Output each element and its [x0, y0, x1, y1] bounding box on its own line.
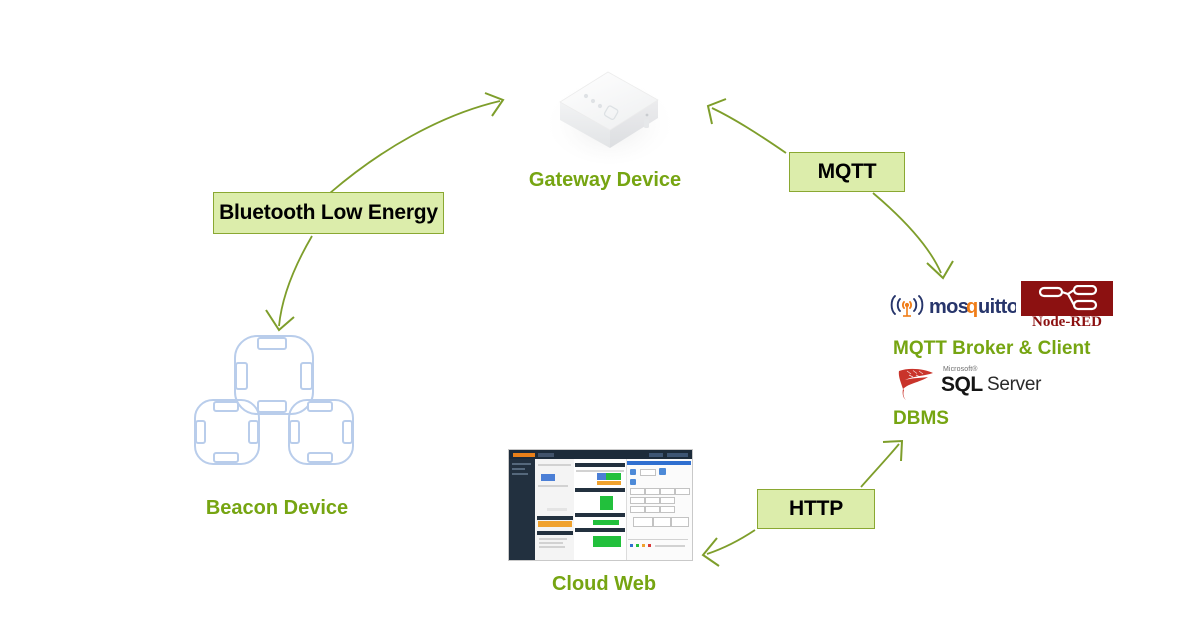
cw-block-orange	[597, 481, 621, 485]
cw-topnav-1	[649, 453, 663, 457]
cw-legend-swatch	[642, 544, 645, 547]
cw-section-header	[575, 463, 625, 467]
ble-arrowhead-gateway	[485, 93, 503, 116]
node-red-logo: Node-RED	[1021, 281, 1113, 333]
sql-server-logo: Microsoft® SQL Server	[895, 364, 1035, 402]
cw-legend-swatch	[636, 544, 639, 547]
ble-arc-lower	[279, 236, 312, 326]
mqtt-broker-caption: MQTT Broker & Client	[893, 338, 1113, 360]
cw-section-header	[575, 528, 625, 532]
cw-user-icon	[630, 479, 636, 485]
ble-arrowhead-beacon	[266, 310, 294, 330]
cw-control-cell	[660, 497, 675, 504]
mqtt-arc-upper	[712, 108, 786, 153]
dbms-caption: DBMS	[893, 408, 1113, 430]
gateway-caption: Gateway Device	[455, 169, 755, 192]
cw-user-icon	[659, 468, 666, 475]
architecture-diagram: Gateway Device	[0, 0, 1200, 624]
microsoft-label: Microsoft®	[943, 366, 978, 373]
beacon-caption: Beacon Device	[127, 497, 427, 520]
gateway-led-2	[591, 99, 595, 103]
mosquitto-logo: mos q uitto	[886, 288, 1016, 322]
cw-control-header	[627, 461, 691, 465]
cw-row-divider	[576, 470, 624, 472]
cw-text-row	[539, 538, 567, 540]
mqtt-arrowhead-gateway	[708, 99, 726, 124]
cw-control-cell	[633, 517, 653, 527]
cw-control-cell	[645, 497, 660, 504]
cw-legend-divider	[628, 539, 688, 540]
cw-brand-logo	[513, 453, 535, 457]
svg-text:uitto: uitto	[978, 296, 1016, 318]
cw-alert-row	[538, 521, 572, 527]
svg-text:q: q	[966, 296, 978, 318]
cw-panel-header	[537, 531, 573, 535]
cw-section-header	[575, 488, 625, 492]
mqtt-arrowhead-broker	[927, 261, 953, 278]
beacon-unit-left	[195, 400, 259, 464]
beacon-unit-right	[289, 400, 353, 464]
http-arc-upper	[861, 444, 899, 487]
beacon-unit-top	[235, 336, 313, 414]
cw-tree-button	[547, 508, 567, 511]
http-arrowhead-dbms	[883, 441, 902, 461]
server-label: Server	[987, 374, 1041, 396]
cw-block-green	[606, 473, 621, 480]
cw-tree-row	[538, 485, 568, 487]
cw-control-cell	[653, 517, 671, 527]
cw-brand-text	[538, 453, 554, 457]
connection-label-http: HTTP	[757, 489, 875, 529]
cw-control-cell	[660, 488, 675, 495]
cw-control-cell	[640, 469, 656, 476]
cw-text-row	[539, 546, 565, 548]
cw-sidebar-item	[512, 468, 525, 470]
beacon-device-icon	[190, 333, 375, 483]
cw-control-cell	[645, 488, 660, 495]
cw-block-green	[593, 536, 621, 547]
gateway-device-icon	[540, 58, 680, 168]
cw-control-cell	[630, 506, 645, 513]
cw-text-row	[539, 542, 563, 544]
cw-section-header	[575, 513, 625, 517]
connection-label-bluetooth-low-energy: Bluetooth Low Energy	[213, 192, 444, 234]
connection-label-mqtt: MQTT	[789, 152, 905, 192]
cw-block-green	[593, 520, 619, 525]
cloud-web-caption: Cloud Web	[454, 573, 754, 596]
node-red-badge	[1021, 281, 1113, 316]
cw-sidebar-item	[512, 463, 531, 465]
cw-legend-swatch	[648, 544, 651, 547]
cw-control-cell	[645, 506, 660, 513]
gateway-led-3	[598, 104, 602, 108]
cw-block-green	[600, 496, 613, 510]
cw-tree-selected	[541, 474, 555, 481]
cw-panel-header	[537, 516, 573, 520]
cloud-web-screenshot	[508, 449, 693, 561]
cw-legend-text	[655, 545, 685, 547]
cw-legend-swatch	[630, 544, 633, 547]
gateway-led-1	[584, 94, 588, 98]
mqtt-arc-lower	[873, 193, 941, 273]
node-red-label: Node-RED	[1021, 314, 1113, 331]
cw-topnav-2	[667, 453, 688, 457]
http-arrowhead-cloud	[703, 538, 719, 566]
cw-control-cell	[660, 506, 675, 513]
svg-text:mos: mos	[929, 296, 969, 318]
cw-control-cell	[630, 488, 645, 495]
sql-server-mark	[899, 369, 933, 400]
cw-topbar	[509, 450, 692, 459]
sql-label: SQL	[941, 373, 983, 397]
cw-tree-row	[538, 464, 571, 466]
cw-control-cell	[630, 497, 645, 504]
cw-control-cell	[675, 488, 690, 495]
cw-control-cell	[671, 517, 689, 527]
http-arc-lower	[707, 530, 755, 554]
cw-user-icon	[630, 469, 636, 475]
cw-sidebar-item	[512, 473, 528, 475]
